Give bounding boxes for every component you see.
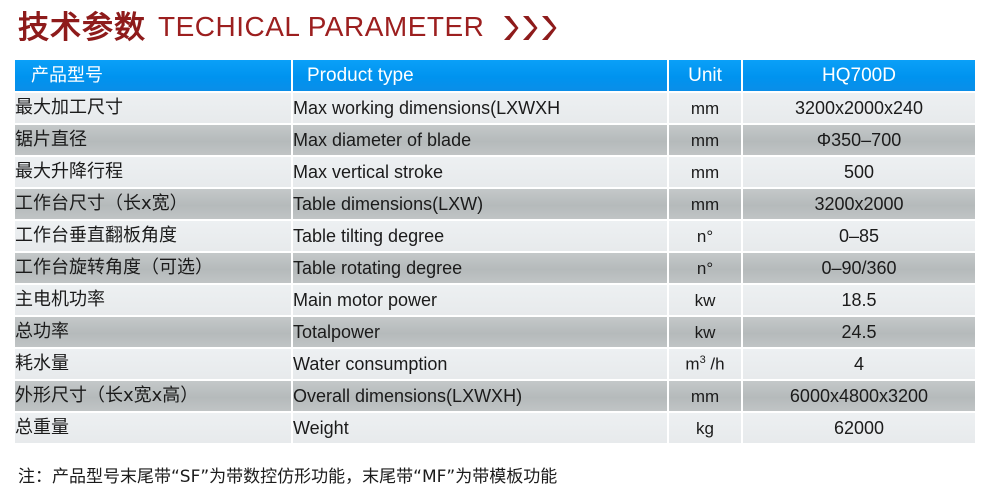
cell-value: 500 (742, 156, 975, 188)
cell-param-cn: 锯片直径 (15, 124, 292, 156)
table-row: 锯片直径Max diameter of blademmΦ350–700 (15, 124, 975, 156)
cell-param-cn: 总功率 (15, 316, 292, 348)
cell-value: 0–85 (742, 220, 975, 252)
table-row: 工作台尺寸（长x宽）Table dimensions(LXW)mm3200x20… (15, 188, 975, 220)
cell-param-cn: 耗水量 (15, 348, 292, 380)
chevron-right-icon (540, 15, 557, 41)
cell-unit: kw (668, 316, 742, 348)
cell-value: 4 (742, 348, 975, 380)
page-title: 技术参数 TECHICAL PARAMETER (18, 4, 557, 50)
cell-unit: mm (668, 188, 742, 220)
cell-unit: mm (668, 156, 742, 188)
footnote: 注：产品型号末尾带“SF”为带数控仿形功能，末尾带“MF”为带模板功能 (18, 462, 557, 487)
cell-unit: m3 /h (668, 348, 742, 380)
page-title-chinese: 技术参数 (18, 12, 146, 43)
spec-table: 产品型号 Product type Unit HQ700D 最大加工尺寸Max … (15, 60, 975, 445)
cell-param-en: Weight (292, 412, 668, 444)
cell-unit: mm (668, 124, 742, 156)
cell-param-cn: 最大升降行程 (15, 156, 292, 188)
cell-value: 18.5 (742, 284, 975, 316)
technical-parameter-page: 技术参数 TECHICAL PARAMETER 产品型号 Product typ… (0, 0, 1000, 497)
table-row: 最大升降行程Max vertical strokemm500 (15, 156, 975, 188)
cell-param-en: Table tilting degree (292, 220, 668, 252)
table-header-row: 产品型号 Product type Unit HQ700D (15, 60, 975, 92)
table-row: 耗水量Water consumptionm3 /h4 (15, 348, 975, 380)
cell-param-cn: 工作台尺寸（长x宽） (15, 188, 292, 220)
cell-value: 3200x2000 (742, 188, 975, 220)
table-row: 总功率Totalpowerkw24.5 (15, 316, 975, 348)
spec-table-body: 最大加工尺寸Max working dimensions(LXWXHmm3200… (15, 92, 975, 444)
table-row: 主电机功率Main motor powerkw18.5 (15, 284, 975, 316)
cell-unit: n° (668, 220, 742, 252)
chevron-right-icon (502, 15, 519, 41)
cell-value: 0–90/360 (742, 252, 975, 284)
cell-value: 24.5 (742, 316, 975, 348)
cell-param-en: Table dimensions(LXW) (292, 188, 668, 220)
cell-param-cn: 最大加工尺寸 (15, 92, 292, 124)
spec-table-container: 产品型号 Product type Unit HQ700D 最大加工尺寸Max … (15, 60, 975, 445)
cell-unit: mm (668, 380, 742, 412)
table-row: 最大加工尺寸Max working dimensions(LXWXHmm3200… (15, 92, 975, 124)
cell-value: Φ350–700 (742, 124, 975, 156)
column-header-product-type: Product type (292, 60, 668, 92)
table-row: 总重量Weightkg62000 (15, 412, 975, 444)
cell-param-cn: 工作台垂直翻板角度 (15, 220, 292, 252)
page-title-english: TECHICAL PARAMETER (158, 13, 484, 41)
cell-param-cn: 总重量 (15, 412, 292, 444)
cell-param-cn: 主电机功率 (15, 284, 292, 316)
cell-value: 3200x2000x240 (742, 92, 975, 124)
unit-tail: /h (706, 355, 725, 374)
column-header-unit: Unit (668, 60, 742, 92)
cell-param-en: Totalpower (292, 316, 668, 348)
column-header-model-value: HQ700D (742, 60, 975, 92)
column-header-model-cn: 产品型号 (15, 60, 292, 92)
cell-param-en: Main motor power (292, 284, 668, 316)
cell-unit: kw (668, 284, 742, 316)
table-row: 外形尺寸（长x宽x高）Overall dimensions(LXWXH)mm60… (15, 380, 975, 412)
cell-param-en: Table rotating degree (292, 252, 668, 284)
chevron-right-icon (521, 15, 538, 41)
cell-unit: n° (668, 252, 742, 284)
table-row: 工作台垂直翻板角度Table tilting degreen°0–85 (15, 220, 975, 252)
cell-param-cn: 工作台旋转角度（可选） (15, 252, 292, 284)
cell-param-en: Max diameter of blade (292, 124, 668, 156)
cell-value: 6000x4800x3200 (742, 380, 975, 412)
cell-param-cn: 外形尺寸（长x宽x高） (15, 380, 292, 412)
cell-param-en: Water consumption (292, 348, 668, 380)
cell-unit: mm (668, 92, 742, 124)
cell-param-en: Max working dimensions(LXWXH (292, 92, 668, 124)
table-row: 工作台旋转角度（可选）Table rotating degreen°0–90/3… (15, 252, 975, 284)
chevron-group (502, 15, 557, 41)
cell-param-en: Max vertical stroke (292, 156, 668, 188)
cell-param-en: Overall dimensions(LXWXH) (292, 380, 668, 412)
unit-base: m (685, 355, 699, 374)
spec-table-head: 产品型号 Product type Unit HQ700D (15, 60, 975, 92)
cell-unit: kg (668, 412, 742, 444)
cell-value: 62000 (742, 412, 975, 444)
